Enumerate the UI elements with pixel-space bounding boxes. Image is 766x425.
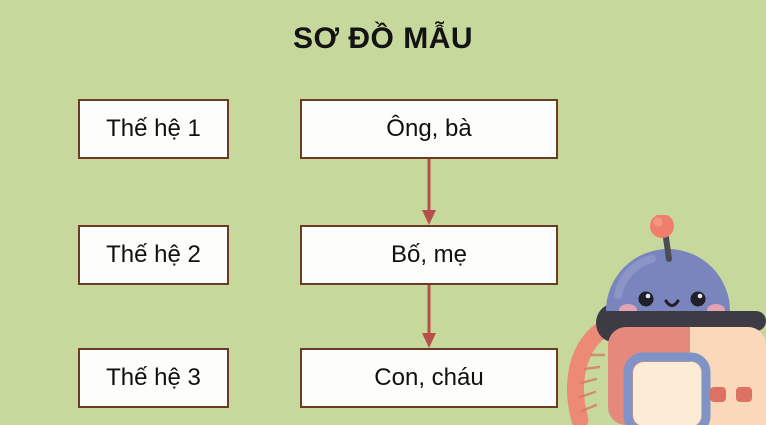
connector-arrowhead-1 (422, 210, 436, 225)
robot-face-icon (619, 292, 725, 317)
robot-shoulder-joint (596, 304, 630, 342)
robot-screen (633, 362, 701, 425)
robot-screen-frame (628, 357, 706, 425)
member-label-1: Ông, bà (386, 115, 471, 143)
member-label-3: Con, cháu (374, 364, 483, 392)
connector-arrowhead-2 (422, 333, 436, 348)
slide-canvas: SƠ ĐỒ MẪU Thế hệ 1 Ông, bà Thế hệ 2 Bố, … (0, 0, 766, 425)
robot-arm-icon (576, 327, 606, 420)
generation-label-3: Thế hệ 3 (106, 364, 201, 392)
robot-body-panel (690, 327, 766, 425)
generation-box-1: Thế hệ 1 (78, 99, 229, 159)
robot-head-icon (606, 249, 730, 311)
robot-illustration (566, 215, 766, 425)
page-title: SƠ ĐỒ MẪU (0, 20, 766, 58)
generation-label-1: Thế hệ 1 (106, 115, 201, 143)
robot-antenna-icon (650, 215, 674, 259)
robot-button-left (710, 387, 726, 402)
robot-collar (602, 311, 766, 331)
connector-arrow-1 (422, 159, 436, 225)
member-label-2: Bố, mẹ (391, 241, 467, 269)
generation-box-2: Thế hệ 2 (78, 225, 229, 285)
member-box-1: Ông, bà (300, 99, 558, 159)
connector-arrow-2 (422, 285, 436, 348)
robot-body (608, 327, 766, 425)
generation-label-2: Thế hệ 2 (106, 241, 201, 269)
robot-head-highlight (618, 259, 652, 295)
generation-box-3: Thế hệ 3 (78, 348, 229, 408)
member-box-3: Con, cháu (300, 348, 558, 408)
robot-button-right (736, 387, 752, 402)
member-box-2: Bố, mẹ (300, 225, 558, 285)
